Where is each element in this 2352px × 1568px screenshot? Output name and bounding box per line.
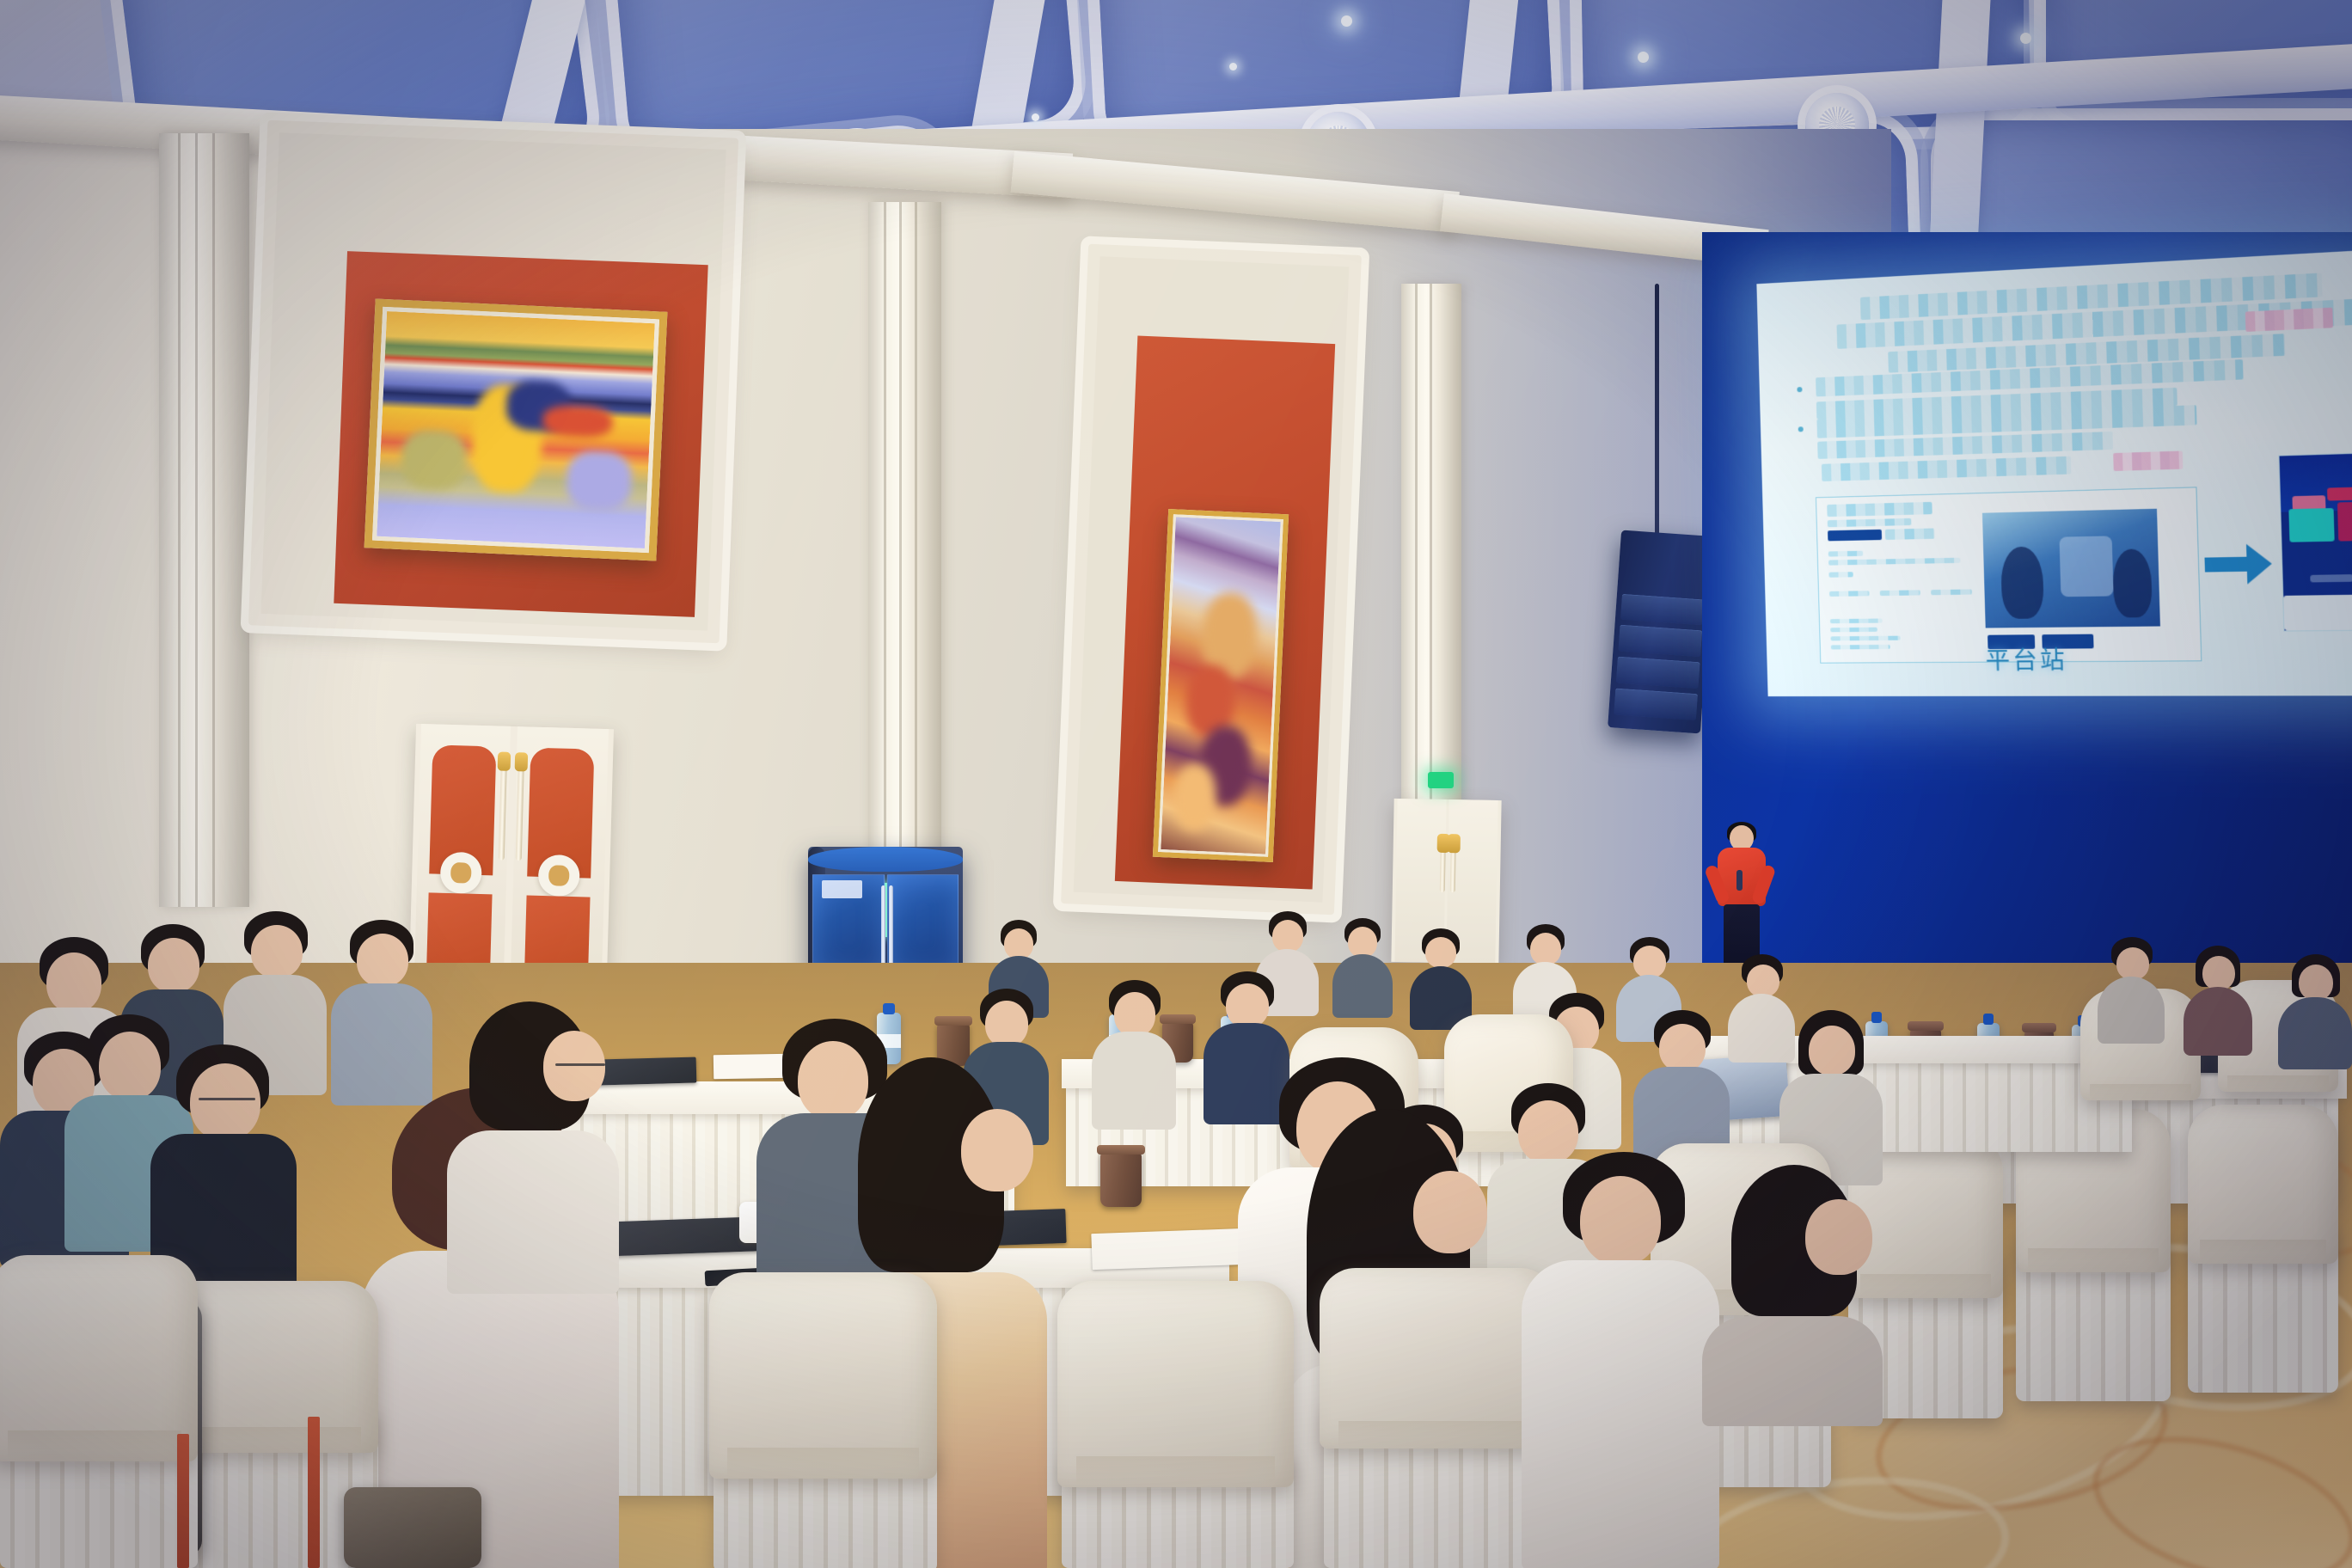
tea-cup [1100,1152,1142,1207]
banquet-chair[interactable] [709,1272,937,1479]
arrow-right-icon [2204,540,2275,589]
banquet-chair[interactable] [1320,1268,1556,1449]
slide-content-card [1816,487,2202,663]
ornate-double-doors[interactable] [409,724,614,978]
attendee [1092,980,1176,1126]
attendee [2278,954,2352,1066]
attendee [447,1001,619,1285]
slide-bullet [1798,426,1804,432]
projection-screen: 平台站 [1756,248,2352,696]
wall-pilaster [159,133,249,907]
attendee [1522,1152,1719,1568]
slide-photo-thumbnail [1982,509,2160,628]
chair-sash [308,1417,320,1568]
door-handle[interactable] [1440,848,1446,892]
slide-bullet [1797,387,1802,392]
mobile-app-screenshot [2278,451,2352,632]
abstract-landscape-painting [364,298,668,560]
banquet-chair[interactable] [1057,1281,1294,1487]
beverage-cooler[interactable] [808,847,963,976]
eyeglasses-icon [199,1098,255,1100]
door-handle[interactable] [1450,848,1456,892]
line-array-speaker [1608,530,1714,734]
eyeglasses-icon [555,1063,605,1066]
attendee [1702,1165,1883,1423]
attendee [2184,946,2252,1053]
speaker-suspension-cable [1655,284,1659,542]
projection-screen-area: 平台站 [1762,284,2352,997]
attendee [2098,937,2165,1040]
exit-sign [1428,772,1454,788]
conference-hall-photo: 平台站 [0,0,2352,1568]
wall-pilaster [868,202,941,924]
attendee [1410,928,1472,1027]
microphone-icon [1736,870,1743,891]
banquet-chair[interactable] [2188,1105,2338,1264]
notepad [1091,1228,1246,1270]
cooler-sticker [822,880,862,898]
attendee [331,920,432,1102]
chair-sash [177,1434,189,1568]
attendee [1332,918,1393,1017]
banquet-chair[interactable] [0,1255,198,1461]
slide-caption: 平台站 [1985,640,2067,676]
abstract-vertical-painting [1153,509,1289,862]
handbag [344,1487,481,1568]
